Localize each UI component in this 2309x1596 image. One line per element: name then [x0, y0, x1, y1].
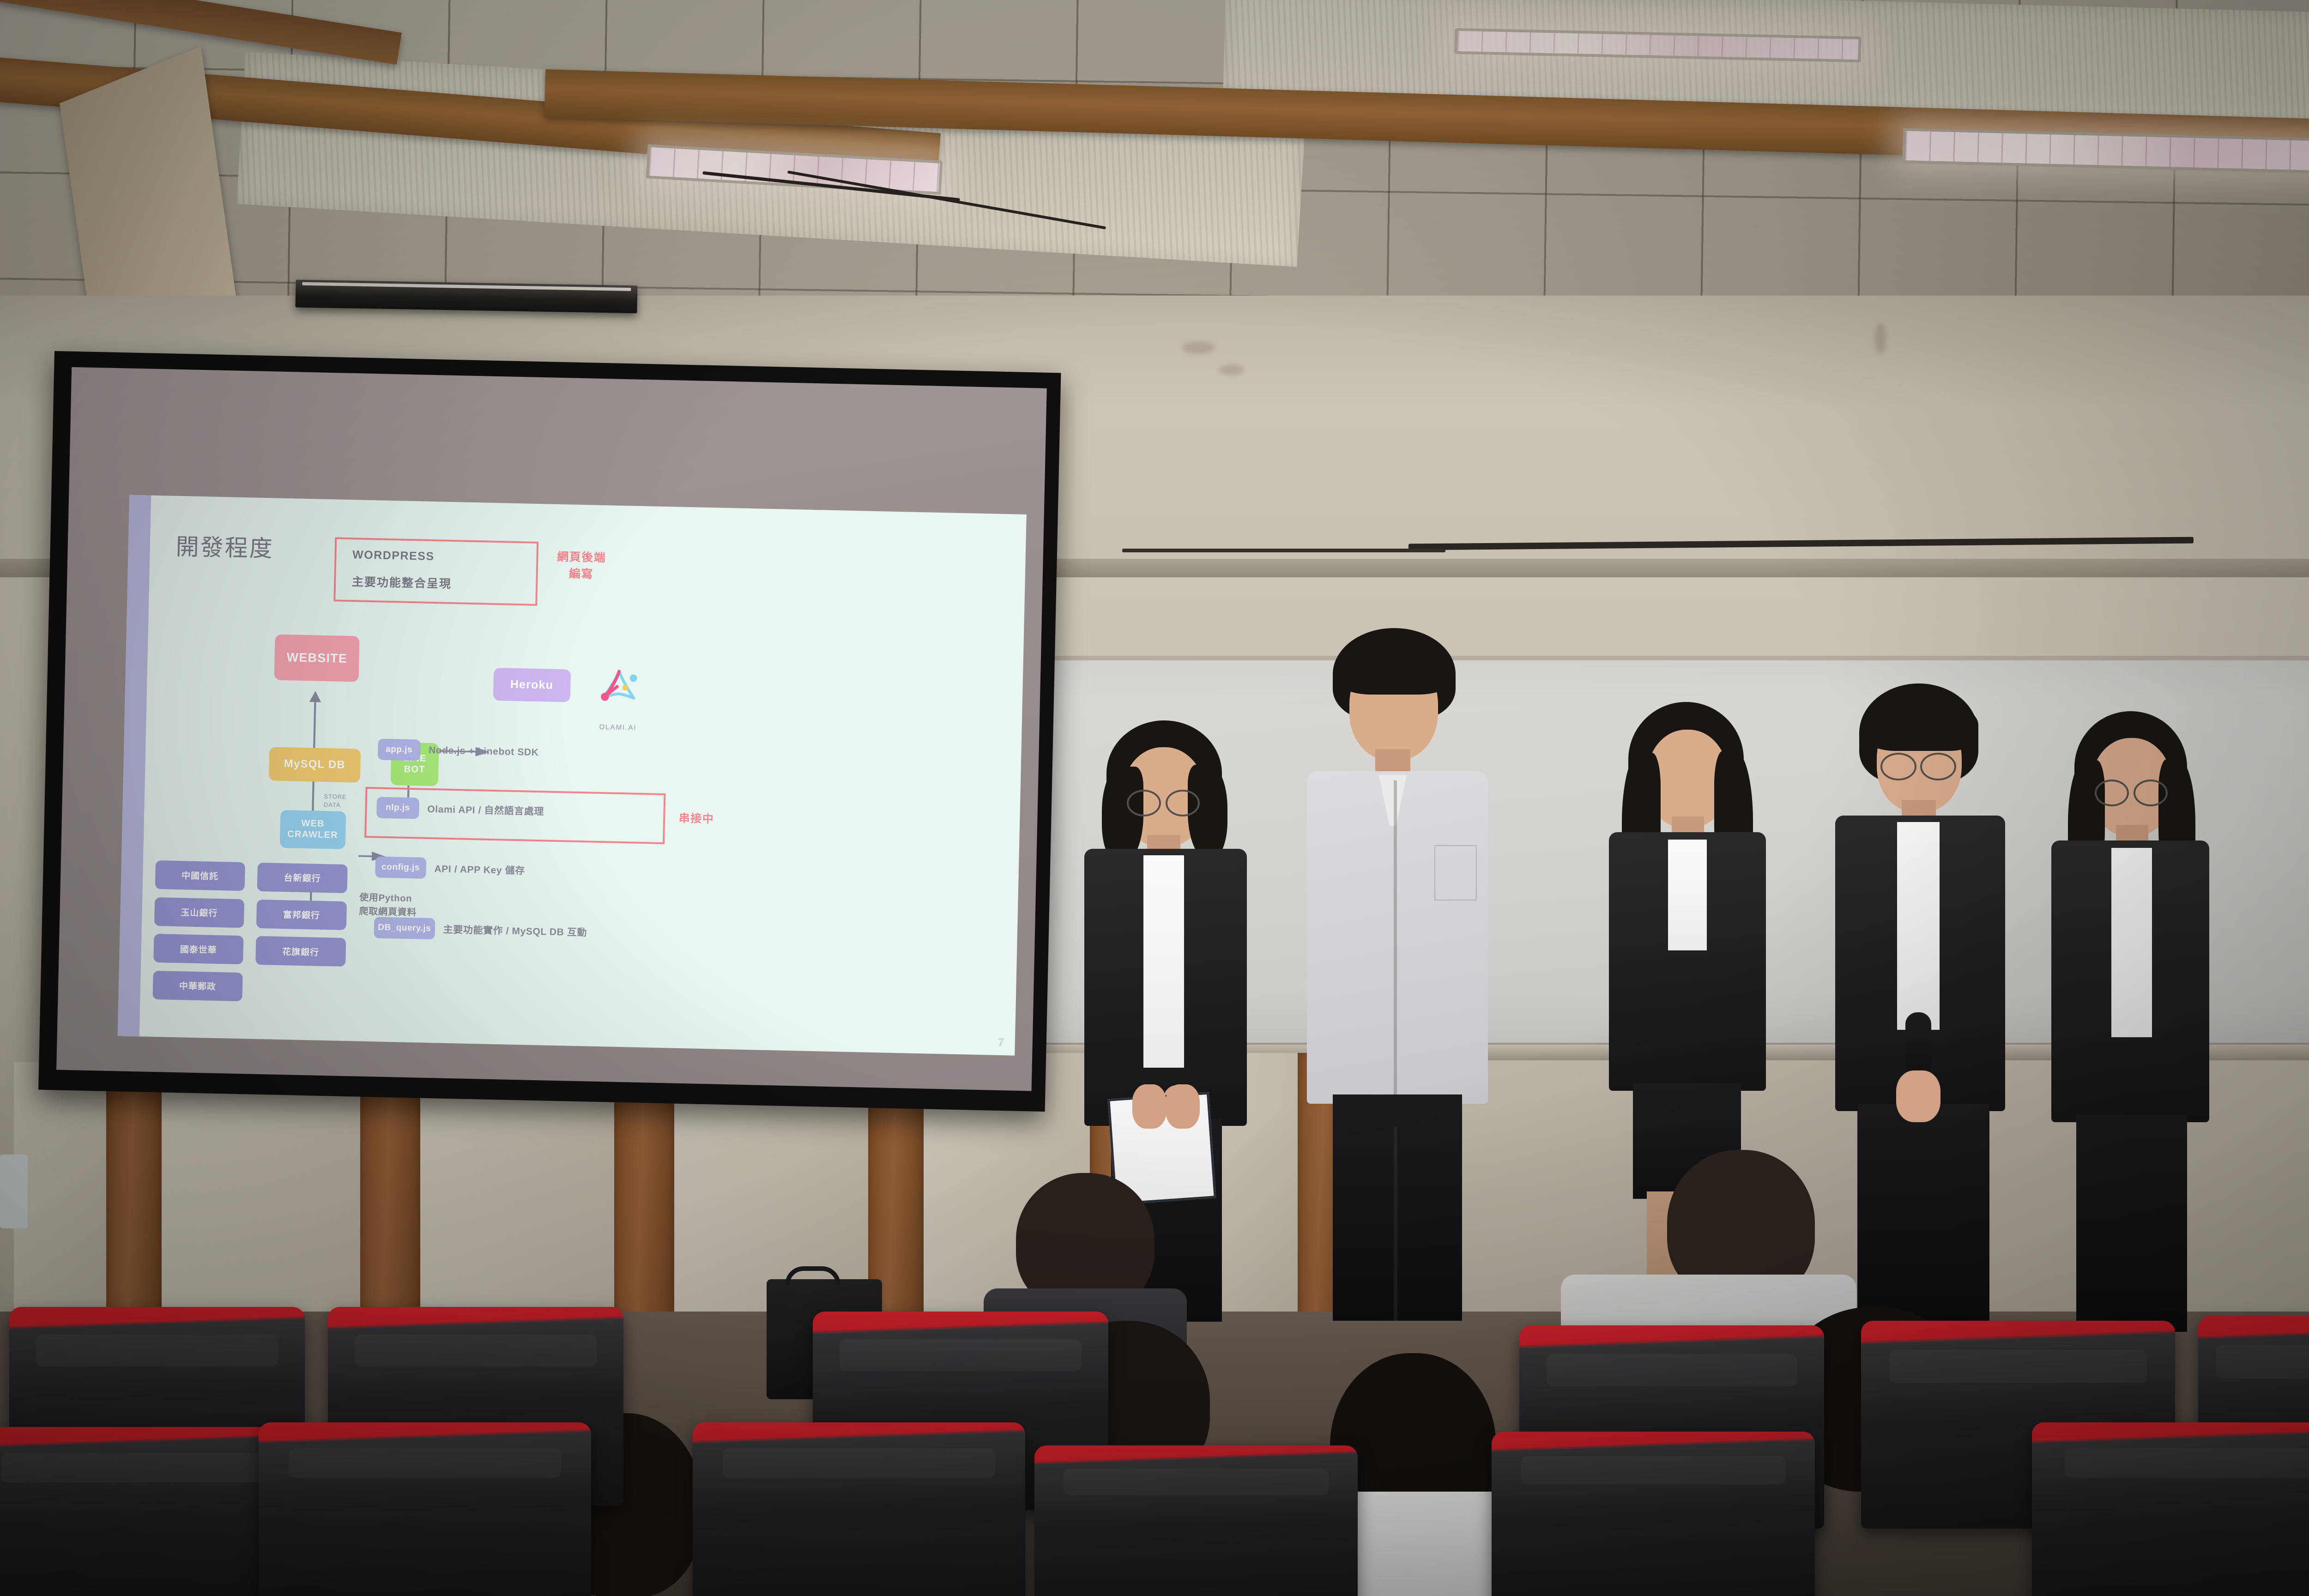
glasses-icon — [1920, 753, 1956, 780]
file-description: Olami API / 自然語言處理 — [427, 802, 544, 818]
wall-mark — [1875, 323, 1886, 354]
blouse-front — [2111, 848, 2152, 1037]
hair — [1866, 699, 1978, 751]
wall-cable-run — [1122, 549, 1445, 552]
seat — [693, 1422, 1025, 1596]
bank-chip: 玉山銀行 — [154, 897, 245, 928]
bank-chip: 台新銀行 — [257, 863, 348, 893]
seat — [2032, 1422, 2309, 1596]
seat — [1034, 1445, 1358, 1596]
wall-column — [14, 1062, 106, 1321]
olami-logo-icon — [598, 665, 639, 713]
bank-chip: 富邦銀行 — [256, 899, 347, 930]
olami-ai-logo: OLAMI.AI — [586, 665, 651, 733]
glasses-icon — [2134, 780, 2168, 806]
file-chip: config.js — [375, 857, 426, 879]
hand — [1132, 1084, 1167, 1129]
file-chip: DB_query.js — [374, 917, 435, 940]
file-row: config.js API / APP Key 儲存 — [375, 857, 525, 881]
glasses-icon — [1166, 790, 1200, 816]
seat — [0, 1427, 296, 1596]
glasses-icon — [2095, 780, 2129, 806]
shirt-placket — [1394, 780, 1397, 1099]
presentation-slide: 開發程度 WORDPRESS 主要功能整合呈現 網頁後端 編寫 — [118, 495, 1027, 1056]
shirt-pocket — [1434, 845, 1477, 901]
flow-arrows — [118, 495, 1027, 1056]
ceiling — [0, 0, 2309, 323]
glasses-icon — [1127, 790, 1161, 816]
presenter-4 — [1815, 683, 2032, 1325]
shirt-front — [1143, 855, 1184, 1068]
node-website: WEBSITE — [274, 635, 360, 682]
node-mysql-db: MySQL DB — [269, 747, 361, 782]
trouser-crease — [1394, 1127, 1397, 1321]
bank-chip: 花旗銀行 — [255, 936, 346, 967]
trousers — [2076, 1115, 2187, 1332]
presenter-5 — [2032, 711, 2235, 1330]
trousers — [1857, 1104, 1989, 1325]
blouse-front — [1668, 840, 1707, 950]
bag-handle — [785, 1266, 840, 1285]
node-heroku: Heroku — [493, 668, 571, 702]
edge-label-store-data: STORE DATA — [324, 792, 347, 810]
wood-panel — [106, 1058, 162, 1325]
seat — [259, 1422, 591, 1596]
slide-page-number: 7 — [997, 1035, 1004, 1050]
shirt-front — [1897, 822, 1940, 1030]
file-description: 主要功能實作 / MySQL DB 互動 — [443, 922, 587, 939]
hand — [1166, 1084, 1200, 1129]
glasses-icon — [1880, 753, 1916, 780]
trousers — [1333, 1094, 1462, 1321]
file-row: nlp.js Olami API / 自然語言處理 — [376, 797, 544, 822]
screen-surface: 開發程度 WORDPRESS 主要功能整合呈現 網頁後端 編寫 — [56, 367, 1047, 1091]
presenter-2 — [1288, 628, 1510, 1321]
dress-shirt — [1307, 771, 1488, 1104]
projection-screen: 開發程度 WORDPRESS 主要功能整合呈現 網頁後端 編寫 — [38, 351, 1061, 1112]
file-row: app.js Node.js + Linebot SDK — [378, 738, 539, 763]
bank-chip: 中華郵政 — [152, 971, 243, 1001]
bank-chip: 國泰世華 — [153, 934, 244, 964]
table-edge — [0, 1155, 28, 1228]
bank-chip: 中國信託 — [155, 860, 245, 891]
file-description: API / APP Key 儲存 — [434, 861, 525, 877]
hand — [1896, 1070, 1940, 1122]
seat — [1492, 1432, 1815, 1596]
file-chip: nlp.js — [376, 797, 419, 819]
lecture-hall-scene: 開發程度 WORDPRESS 主要功能整合呈現 網頁後端 編寫 — [0, 0, 2309, 1596]
node-web-crawler: WEB CRAWLER — [280, 810, 346, 849]
file-chip: app.js — [378, 738, 421, 761]
hair — [1336, 646, 1453, 695]
olami-logo-caption: OLAMI.AI — [586, 723, 649, 732]
file-description: Node.js + Linebot SDK — [429, 744, 539, 758]
wall-mark — [1219, 365, 1244, 375]
nlp-annotation: 串接中 — [679, 809, 714, 826]
wall-mark — [1182, 342, 1215, 354]
wall-column — [162, 1058, 360, 1325]
crawler-annotation: 使用Python 爬取網頁資料 — [359, 891, 417, 920]
